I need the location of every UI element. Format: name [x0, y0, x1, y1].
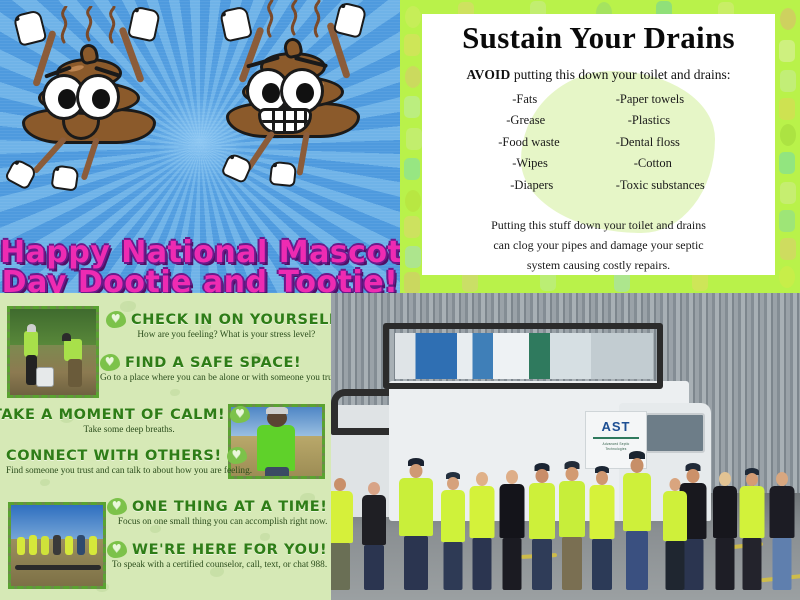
- wellness-tip-6: WE'RE HERE FOR YOU! To speak with a cert…: [107, 541, 327, 570]
- wellness-tip-2: FIND A SAFE SPACE! Go to a place where y…: [100, 354, 331, 383]
- mascot-title-line-1: Happy National Mascot: [0, 238, 400, 269]
- list-item: -Dental floss: [616, 132, 705, 154]
- avoid-lead-rest: putting this down your toilet and drains…: [510, 67, 730, 82]
- note-line: system causing costly repairs.: [432, 256, 765, 275]
- list-item: -Food waste: [498, 132, 559, 154]
- crew-member: [663, 478, 687, 590]
- tip-heading-row: WE'RE HERE FOR YOU!: [107, 541, 327, 558]
- avoid-list-right: -Paper towels -Plastics -Dental floss -C…: [616, 89, 705, 197]
- foot-right-icon: [269, 161, 297, 188]
- tip-heading: CONNECT WITH OTHERS!: [6, 448, 222, 464]
- drains-poster-card: Sustain Your Drains AVOID putting this d…: [422, 14, 775, 275]
- crew-member: [441, 474, 465, 590]
- heart-icon: [230, 406, 250, 423]
- poo-body: [22, 48, 156, 144]
- foot-right-icon: [50, 164, 79, 191]
- truck-rack: [383, 323, 663, 389]
- panel-crew-photo: AST Advanced Septic Technologies: [331, 293, 800, 600]
- list-item: -Cotton: [616, 153, 705, 175]
- crew-member: [529, 466, 555, 590]
- eyes: [42, 74, 136, 122]
- wellness-tip-4: CONNECT WITH OTHERS! Find someone you tr…: [6, 447, 252, 476]
- avoid-list-left: -Fats -Grease -Food waste -Wipes -Diaper…: [492, 89, 559, 197]
- drains-note: Putting this stuff down your toilet and …: [432, 216, 765, 275]
- tip-subtext: Focus on one small thing you can accompl…: [107, 517, 327, 527]
- crew-member: [713, 472, 737, 590]
- tip-subtext: To speak with a certified counselor, cal…: [107, 560, 327, 570]
- crew-member: [739, 470, 764, 590]
- crew-member: [499, 470, 524, 590]
- crew-member: [399, 460, 433, 590]
- list-item: -Toxic substances: [616, 175, 705, 197]
- crew-member: [623, 454, 651, 590]
- tip-heading-row: FIND A SAFE SPACE!: [100, 354, 331, 371]
- list-item: -Fats: [498, 89, 559, 111]
- mascot-dootie: [14, 10, 164, 185]
- tip-heading: FIND A SAFE SPACE!: [125, 355, 301, 371]
- panel-drains-poster: Sustain Your Drains AVOID putting this d…: [400, 0, 800, 293]
- heart-icon: [107, 498, 127, 515]
- panel-mascot-poster: Happy National Mascot Day Dootie and Too…: [0, 0, 400, 293]
- heart-icon: [106, 311, 126, 328]
- poo-body: [226, 42, 360, 138]
- tip-subtext: Go to a place where you can be alone or …: [100, 373, 331, 383]
- panel-wellness-tips: CHECK IN ON YOURSELF! How are you feelin…: [0, 293, 331, 600]
- tip-heading-row: TAKE A MOMENT OF CALM!: [0, 406, 250, 423]
- heart-icon: [227, 447, 247, 464]
- tip-heading: WE'RE HERE FOR YOU!: [132, 542, 327, 558]
- list-item: -Plastics: [616, 110, 705, 132]
- tip-heading-row: CONNECT WITH OTHERS!: [6, 447, 252, 464]
- heart-icon: [100, 354, 120, 371]
- drains-poster-title: Sustain Your Drains: [432, 22, 765, 55]
- crew-member: [589, 468, 614, 590]
- mascot-poster-title: Happy National Mascot Day Dootie and Too…: [0, 238, 400, 293]
- tip-subtext: Take some deep breaths.: [0, 425, 250, 435]
- crew-member: [559, 464, 585, 590]
- cab-window: [645, 413, 705, 453]
- mouth-grin: [258, 108, 312, 134]
- tip-subtext: Find someone you trust and can talk to a…: [6, 466, 252, 476]
- mascot-title-line-2: Day Dootie and Tootie!: [0, 268, 400, 293]
- crew-member: [331, 478, 353, 590]
- avoid-lists: -Fats -Grease -Food waste -Wipes -Diaper…: [432, 89, 765, 197]
- wellness-tip-5: ONE THING AT A TIME! Focus on one small …: [107, 498, 327, 527]
- crew-member: [361, 482, 387, 590]
- avoid-keyword: AVOID: [466, 67, 510, 82]
- wellness-photo-workers: [7, 306, 99, 398]
- eye-right: [76, 74, 120, 120]
- tip-heading: TAKE A MOMENT OF CALM!: [0, 407, 225, 423]
- wellness-tip-3: TAKE A MOMENT OF CALM! Take some deep br…: [0, 406, 250, 435]
- legs: [24, 138, 154, 184]
- tip-heading-row: ONE THING AT A TIME!: [107, 498, 327, 515]
- note-line: can clog your pipes and damage your sept…: [432, 236, 765, 256]
- tip-heading: ONE THING AT A TIME!: [132, 499, 327, 515]
- wellness-tip-1: CHECK IN ON YOURSELF! How are you feelin…: [106, 311, 331, 340]
- crew-member: [769, 472, 794, 590]
- mascot-tootie: [218, 4, 368, 179]
- list-item: -Paper towels: [616, 89, 705, 111]
- crew-member: [469, 472, 494, 590]
- avoid-lead-line: AVOID putting this down your toilet and …: [432, 67, 765, 83]
- list-item: -Diapers: [498, 175, 559, 197]
- note-line: Putting this stuff down your toilet and …: [432, 216, 765, 236]
- tip-heading-row: CHECK IN ON YOURSELF!: [106, 311, 331, 328]
- tip-heading: CHECK IN ON YOURSELF!: [131, 312, 331, 328]
- heart-icon: [107, 541, 127, 558]
- collage-root: Happy National Mascot Day Dootie and Too…: [0, 0, 800, 600]
- list-item: -Grease: [498, 110, 559, 132]
- list-item: -Wipes: [498, 153, 559, 175]
- tip-subtext: How are you feeling? What is your stress…: [106, 330, 331, 340]
- ast-logo: AST: [586, 419, 646, 434]
- wellness-photo-crew: [8, 502, 106, 589]
